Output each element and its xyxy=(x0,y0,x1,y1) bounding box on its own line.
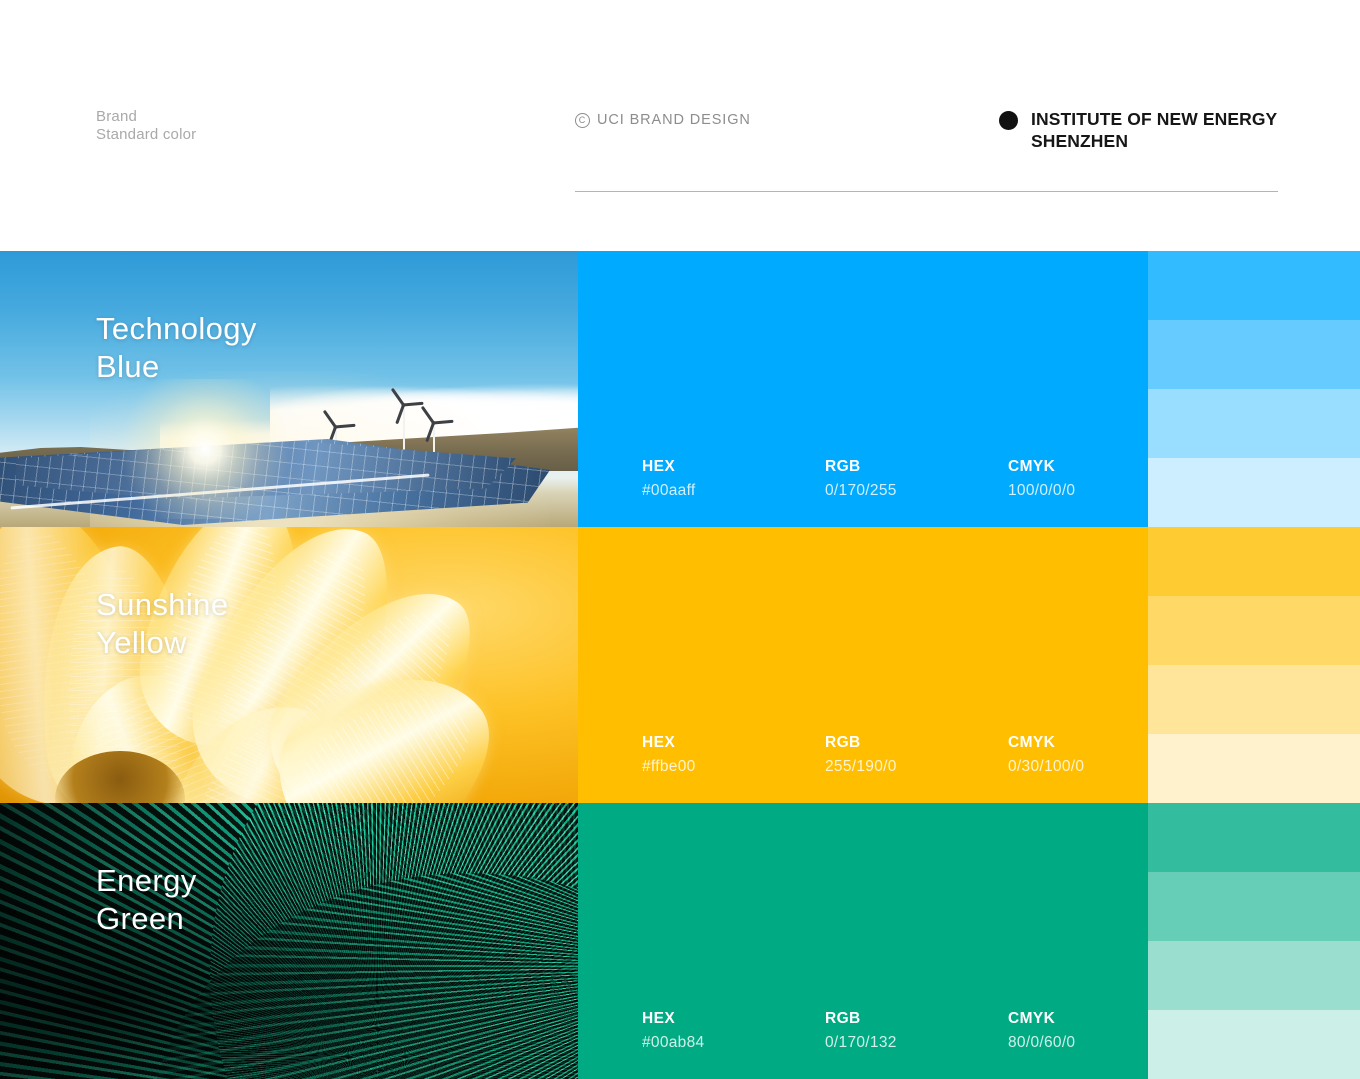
page-header: Brand Standard color C UCI BRAND DESIGN … xyxy=(0,0,1360,251)
spec-rgb-label: RGB xyxy=(825,734,1008,752)
tint-scale-energy-green xyxy=(1148,803,1360,1079)
spec-rgb-label: RGB xyxy=(825,1010,1008,1028)
spec-hex-value: #00ab84 xyxy=(642,1034,825,1052)
color-name-line1: Energy xyxy=(96,862,197,900)
spec-rgb: RGB 0/170/255 xyxy=(825,458,1008,500)
tint-swatch[interactable] xyxy=(1148,941,1360,1010)
page-title-line1: Brand xyxy=(96,108,196,126)
color-name-line2: Blue xyxy=(96,348,257,386)
color-photo-sunshine-yellow: Sunshine Yellow xyxy=(0,527,578,803)
color-name-energy-green: Energy Green xyxy=(96,862,197,938)
spec-rgb: RGB 0/170/132 xyxy=(825,1010,1008,1052)
sun-flare xyxy=(110,379,300,519)
color-name-sunshine-yellow: Sunshine Yellow xyxy=(96,586,228,662)
color-name-line2: Yellow xyxy=(96,624,228,662)
spec-hex: HEX #00ab84 xyxy=(642,1010,825,1052)
tint-swatch[interactable] xyxy=(1148,596,1360,665)
brand-logo-line1: INSTITUTE OF NEW ENERGY xyxy=(1031,109,1277,129)
brand-logo: INSTITUTE OF NEW ENERGY SHENZHEN xyxy=(999,108,1277,152)
spec-rgb-value: 0/170/255 xyxy=(825,482,1008,500)
frond-vignette xyxy=(0,803,578,1079)
tint-scale-sunshine-yellow xyxy=(1148,527,1360,803)
color-specs: HEX #00aaff RGB 0/170/255 CMYK 100/0/0/0 xyxy=(642,458,1191,500)
brand-logo-text: INSTITUTE OF NEW ENERGY SHENZHEN xyxy=(1031,108,1277,152)
spec-hex-value: #ffbe00 xyxy=(642,758,825,776)
spec-rgb-value: 255/190/0 xyxy=(825,758,1008,776)
palette-row-technology-blue: Technology Blue HEX #00aaff RGB 0/170/25… xyxy=(0,251,1360,527)
color-name-technology-blue: Technology Blue xyxy=(96,310,257,386)
tint-swatch[interactable] xyxy=(1148,803,1360,872)
color-swatch-energy-green[interactable]: HEX #00ab84 RGB 0/170/132 CMYK 80/0/60/0 xyxy=(578,803,1148,1079)
color-swatch-sunshine-yellow[interactable]: HEX #ffbe00 RGB 255/190/0 CMYK 0/30/100/… xyxy=(578,527,1148,803)
tint-swatch[interactable] xyxy=(1148,389,1360,458)
tint-swatch[interactable] xyxy=(1148,527,1360,596)
color-specs: HEX #ffbe00 RGB 255/190/0 CMYK 0/30/100/… xyxy=(642,734,1191,776)
spec-hex: HEX #ffbe00 xyxy=(642,734,825,776)
spec-hex-label: HEX xyxy=(642,458,825,476)
color-name-line2: Green xyxy=(96,900,197,938)
copyright-icon: C xyxy=(575,113,590,128)
tint-swatch[interactable] xyxy=(1148,458,1360,527)
sunflower-photo xyxy=(0,527,578,803)
spec-rgb-value: 0/170/132 xyxy=(825,1034,1008,1052)
tint-swatch[interactable] xyxy=(1148,251,1360,320)
page-title: Brand Standard color xyxy=(96,108,196,144)
color-palette: Technology Blue HEX #00aaff RGB 0/170/25… xyxy=(0,251,1360,1079)
color-swatch-technology-blue[interactable]: HEX #00aaff RGB 0/170/255 CMYK 100/0/0/0 xyxy=(578,251,1148,527)
tint-swatch[interactable] xyxy=(1148,1010,1360,1079)
tint-swatch[interactable] xyxy=(1148,665,1360,734)
palette-row-sunshine-yellow: Sunshine Yellow HEX #ffbe00 RGB 255/190/… xyxy=(0,527,1360,803)
spec-hex-label: HEX xyxy=(642,1010,825,1028)
header-divider xyxy=(575,191,1278,192)
spec-hex-value: #00aaff xyxy=(642,482,825,500)
spec-hex-label: HEX xyxy=(642,734,825,752)
tint-scale-technology-blue xyxy=(1148,251,1360,527)
copyright-label: UCI BRAND DESIGN xyxy=(597,112,751,128)
frond-photo xyxy=(0,803,578,1079)
tint-swatch[interactable] xyxy=(1148,734,1360,803)
tint-swatch[interactable] xyxy=(1148,320,1360,389)
brand-logo-line2: SHENZHEN xyxy=(1031,131,1128,151)
color-photo-technology-blue: Technology Blue xyxy=(0,251,578,527)
page-title-line2: Standard color xyxy=(96,126,196,144)
color-name-line1: Sunshine xyxy=(96,586,228,624)
spec-rgb-label: RGB xyxy=(825,458,1008,476)
brand-dot-icon xyxy=(999,111,1018,130)
color-specs: HEX #00ab84 RGB 0/170/132 CMYK 80/0/60/0 xyxy=(642,1010,1191,1052)
spec-rgb: RGB 255/190/0 xyxy=(825,734,1008,776)
spec-hex: HEX #00aaff xyxy=(642,458,825,500)
copyright-notice: C UCI BRAND DESIGN xyxy=(575,112,751,128)
palette-row-energy-green: Energy Green HEX #00ab84 RGB 0/170/132 C… xyxy=(0,803,1360,1079)
tint-swatch[interactable] xyxy=(1148,872,1360,941)
color-photo-energy-green: Energy Green xyxy=(0,803,578,1079)
color-name-line1: Technology xyxy=(96,310,257,348)
